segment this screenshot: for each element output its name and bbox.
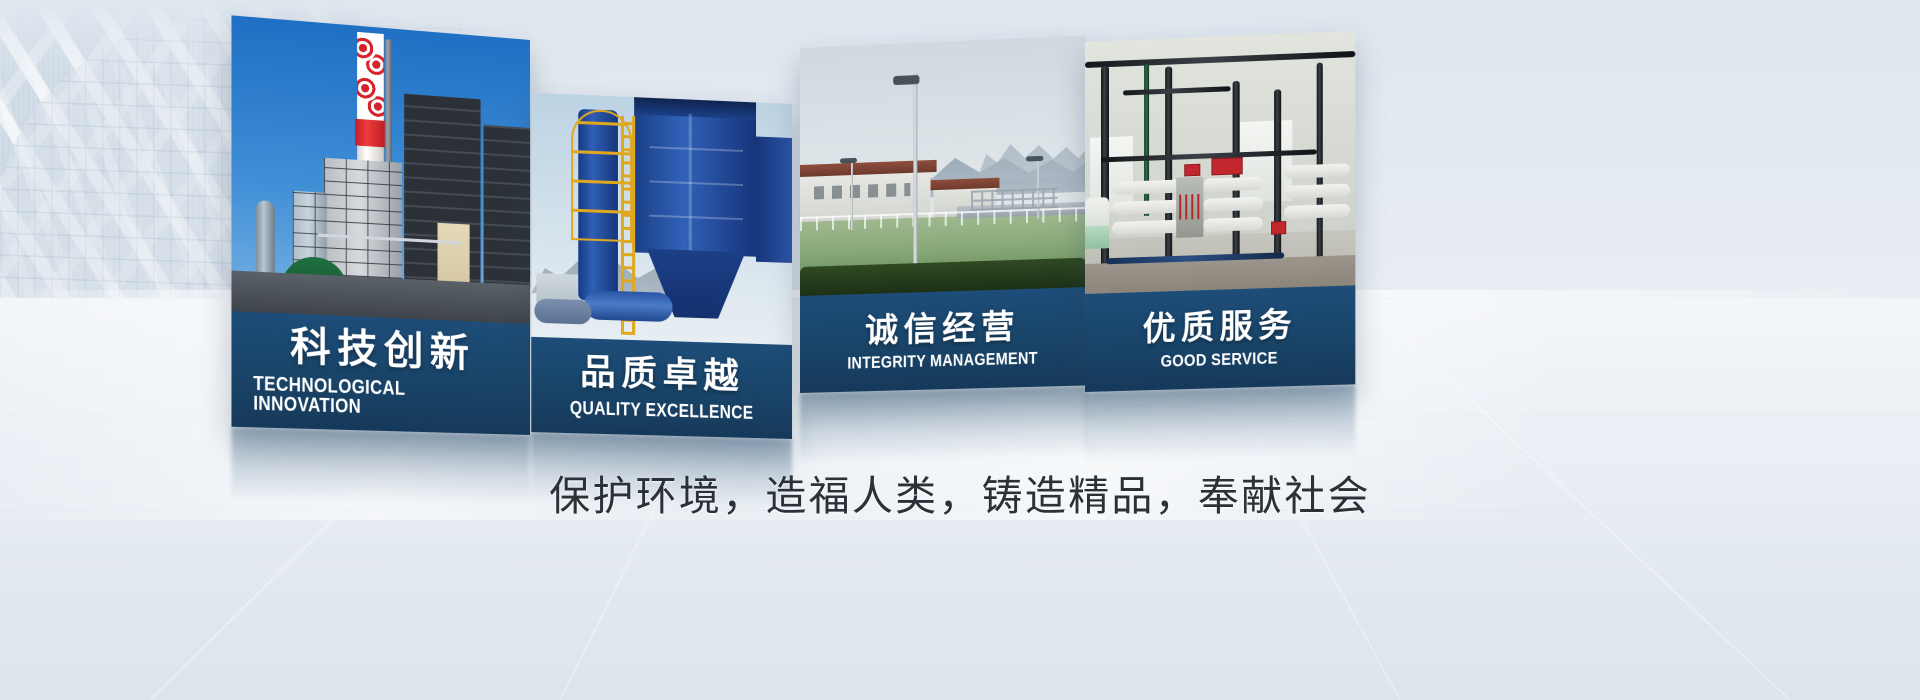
panel-title-cn: 品质卓越 [580, 355, 744, 395]
value-panel-technological-innovation[interactable]: 科技创新 TECHNOLOGICAL INNOVATION [231, 15, 530, 435]
banner-tagline: 保护环境，造福人类，铸造精品，奉献社会 [0, 462, 1920, 522]
panel-reflection [1085, 384, 1355, 462]
panel-photo-dust-collector [531, 93, 792, 345]
panel-label-band: 品质卓越 QUALITY EXCELLENCE [531, 337, 792, 439]
panel-label-band: 优质服务 GOOD SERVICE [1085, 285, 1355, 392]
panel-title-en: QUALITY EXCELLENCE [570, 398, 754, 421]
panel-card: 诚信经营 INTEGRITY MANAGEMENT [800, 36, 1086, 393]
panel-card: 优质服务 GOOD SERVICE [1085, 31, 1355, 392]
panel-photo-industrial-chimney [231, 15, 530, 324]
panel-title-cn: 诚信经营 [865, 309, 1020, 347]
panel-photo-reverse-osmosis-room [1085, 31, 1355, 294]
panel-card: 科技创新 TECHNOLOGICAL INNOVATION [231, 15, 530, 435]
value-panel-quality-excellence[interactable]: 品质卓越 QUALITY EXCELLENCE [531, 93, 792, 439]
panel-title-en: GOOD SERVICE [1161, 349, 1278, 370]
value-panels-group: 科技创新 TECHNOLOGICAL INNOVATION [0, 0, 1920, 700]
value-panel-good-service[interactable]: 优质服务 GOOD SERVICE [1085, 31, 1355, 392]
panel-label-band: 科技创新 TECHNOLOGICAL INNOVATION [231, 312, 530, 435]
banner-stage: 科技创新 TECHNOLOGICAL INNOVATION [0, 0, 1920, 700]
value-panel-integrity-management[interactable]: 诚信经营 INTEGRITY MANAGEMENT [800, 36, 1086, 393]
panel-reflection [800, 385, 1086, 463]
panel-title-en: INTEGRITY MANAGEMENT [847, 350, 1038, 372]
panel-card: 品质卓越 QUALITY EXCELLENCE [531, 93, 792, 439]
panel-photo-water-treatment-plant [800, 36, 1086, 297]
panel-label-band: 诚信经营 INTEGRITY MANAGEMENT [800, 287, 1086, 393]
panel-title-cn: 科技创新 [290, 327, 475, 374]
panel-title-en: TECHNOLOGICAL INNOVATION [253, 375, 510, 422]
panel-title-cn: 优质服务 [1142, 307, 1296, 345]
